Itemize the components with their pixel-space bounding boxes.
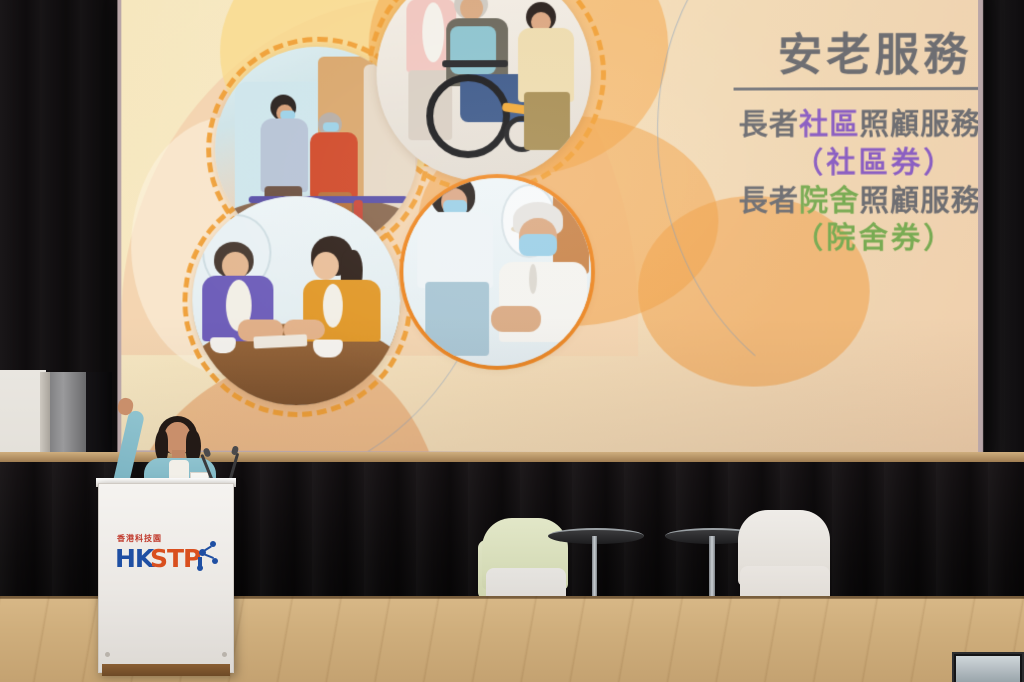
confidence-monitor-screen bbox=[956, 656, 1020, 682]
slide-line-1-suffix: 照顧服務券 bbox=[860, 107, 978, 141]
slide-title-underline bbox=[734, 87, 979, 91]
slide-line-3-suffix: 照顧服務券 bbox=[860, 183, 978, 217]
slide-line-1-highlight: 社區 bbox=[799, 108, 860, 142]
stage-scene: 安老服務 長者社區照顧服務券 （社區券） 長者院舍照顧服務券 （院舍券） bbox=[0, 0, 1024, 682]
slide-title: 安老服務 bbox=[663, 32, 978, 80]
slide-line-3: 長者院舍照顧服務券 bbox=[663, 182, 978, 220]
slide-line-3-highlight: 院舍 bbox=[799, 183, 860, 217]
projection-screen: 安老服務 長者社區照顧服務券 （社區券） 長者院舍照顧服務券 （院舍券） bbox=[121, 0, 978, 454]
slide-line-1: 長者社區照顧服務券 bbox=[663, 106, 978, 145]
photo-nurse-elderly-man bbox=[403, 178, 591, 366]
hkstp-logo-hk: HK bbox=[115, 544, 153, 573]
hkstp-logo-chinese: 香港科技園 bbox=[117, 533, 162, 544]
podium-base bbox=[102, 664, 230, 676]
slide-line-2: （社區券） bbox=[663, 144, 978, 182]
podium-screw bbox=[222, 652, 227, 657]
photo-two-women-table bbox=[192, 196, 400, 405]
slide-line-3-prefix: 長者 bbox=[739, 183, 799, 217]
slide-line-4: （院舍券） bbox=[663, 220, 978, 258]
slide-line-1-prefix: 長者 bbox=[739, 108, 799, 142]
podium-screw bbox=[105, 652, 110, 657]
hkstp-logo-stp: STP bbox=[150, 544, 200, 573]
hkstp-logo: 香港科技園 HK STP bbox=[113, 533, 217, 579]
slide-text-block: 安老服務 長者社區照顧服務券 （社區券） 長者院舍照顧服務券 （院舍券） bbox=[663, 32, 978, 258]
